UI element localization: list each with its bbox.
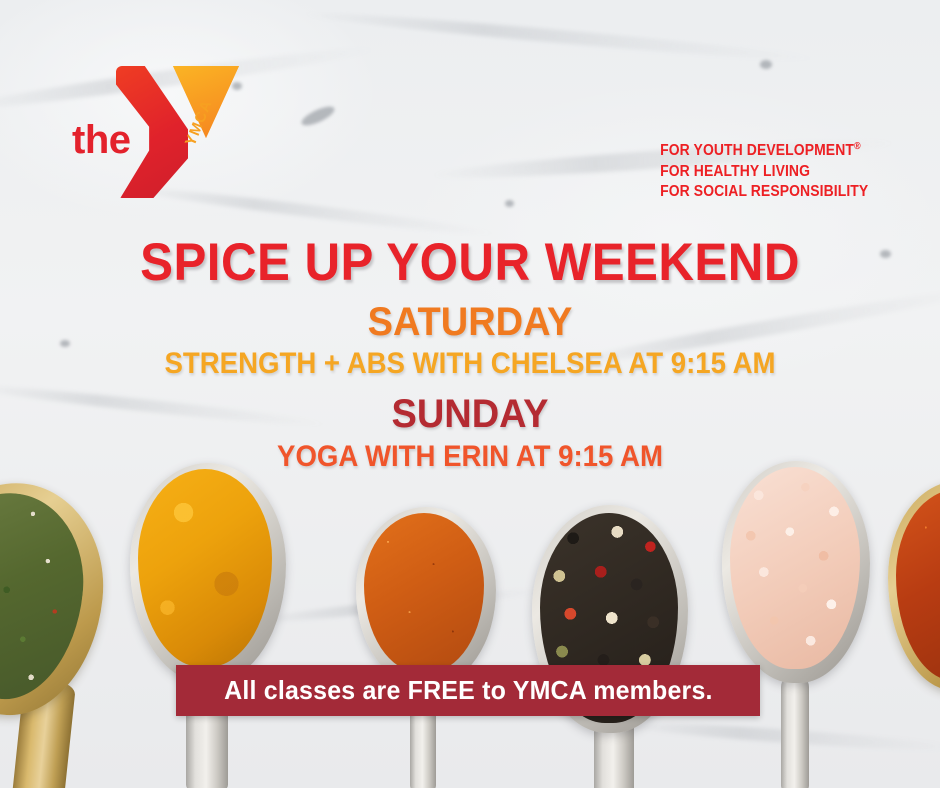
saturday-day-label: SATURDAY [24, 300, 917, 345]
page-title: SPICE UP YOUR WEEKEND [33, 232, 907, 293]
brand-tagline: FOR YOUTH DEVELOPMENT® FOR HEALTHY LIVIN… [660, 140, 868, 203]
tagline-line-3: FOR SOCIAL RESPONSIBILITY [660, 182, 868, 203]
marble-speck [505, 200, 514, 207]
sunday-day-label: SUNDAY [24, 392, 917, 437]
spoon-contents-turmeric [138, 469, 272, 667]
spoon-contents-himalayan-salt [730, 467, 860, 669]
tagline-line-2: FOR HEALTHY LIVING [660, 162, 868, 183]
marble-speck [760, 60, 772, 69]
banner-text: All classes are FREE to YMCA members. [224, 675, 712, 706]
ymca-logo: the YMCA [72, 58, 242, 198]
spoon-handle [781, 675, 809, 788]
registered-trademark-icon: ® [854, 141, 861, 152]
logo-y-mark: YMCA [116, 58, 242, 198]
spoons-photo-strip [0, 455, 940, 788]
saturday-class-detail: STRENGTH + ABS WITH CHELSEA AT 9:15 AM [38, 347, 903, 381]
tagline-line-1: FOR YOUTH DEVELOPMENT® [660, 140, 868, 162]
spoon-contents-paprika [364, 513, 484, 673]
ymca-spice-up-your-weekend-poster: the YMCA FOR YOUTH DEVELOPMENT® FOR HEAL… [0, 0, 940, 788]
free-classes-banner: All classes are FREE to YMCA members. [176, 665, 760, 716]
